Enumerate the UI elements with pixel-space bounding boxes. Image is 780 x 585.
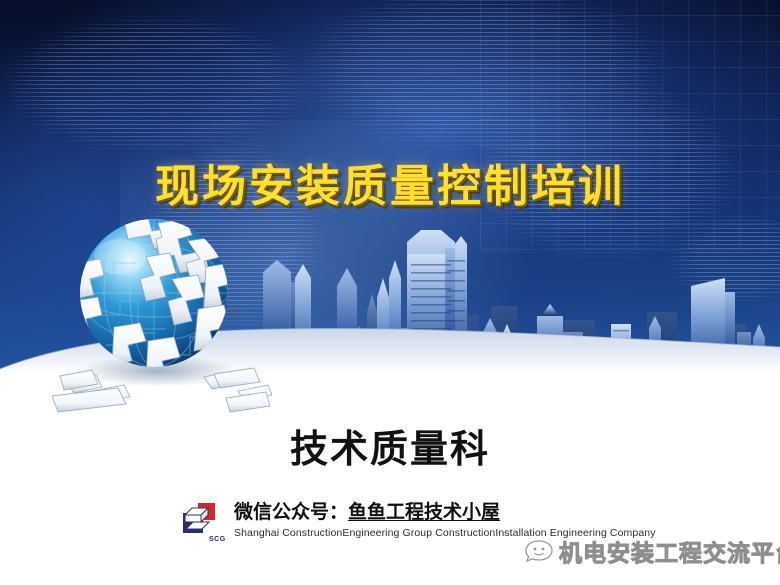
slide-title: 现场安装质量控制培训: [0, 150, 780, 214]
presentation-slide: 现场安装质量控制培训 技术质量科 SCG 微信公众号：鱼鱼工程技术小屋 Shan…: [0, 0, 780, 585]
chat-bubble-smiley-icon: [524, 539, 554, 563]
wechat-label: 微信公众号：: [234, 501, 348, 523]
watermark: 机电安装工程交流平台: [524, 534, 780, 568]
watermark-text: 机电安装工程交流平台: [559, 534, 780, 568]
scg-logo-mark: [182, 502, 216, 536]
wechat-line: 微信公众号：鱼鱼工程技术小屋: [234, 500, 656, 524]
slide-subtitle: 技术质量科: [0, 418, 780, 473]
scg-logo: SCG: [182, 502, 228, 544]
wechat-account: 鱼鱼工程技术小屋: [348, 501, 500, 523]
scg-logo-text: SCG: [209, 536, 226, 543]
